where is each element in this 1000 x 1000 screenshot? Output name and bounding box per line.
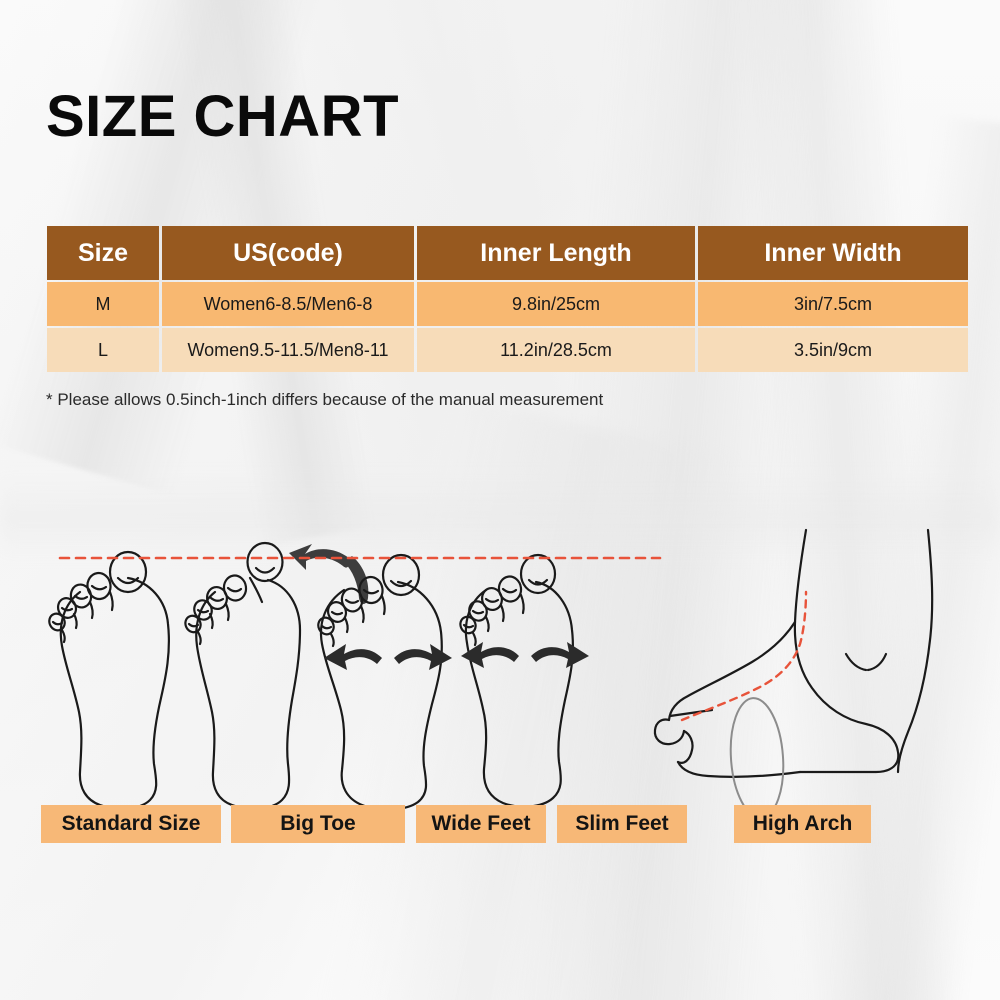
foot-sole-wide-arrows-icon bbox=[316, 555, 442, 810]
page-title: SIZE CHART bbox=[46, 88, 399, 146]
foot-sole-slim-arrows-icon bbox=[458, 555, 573, 807]
label-wide-feet: Wide Feet bbox=[416, 805, 546, 843]
cell-inner-length: 9.8in/25cm bbox=[417, 282, 695, 326]
cell-us-code: Women9.5-11.5/Men8-11 bbox=[162, 328, 414, 372]
curved-arrow-pointing-to-big-toe bbox=[289, 544, 368, 604]
column-header-inner-width: Inner Width bbox=[698, 226, 968, 280]
foot-type-illustrations bbox=[0, 520, 1000, 820]
foot-sole-top-view-icon bbox=[47, 552, 169, 809]
table-row: L Women9.5-11.5/Men8-11 11.2in/28.5cm 3.… bbox=[47, 328, 968, 372]
column-header-inner-length: Inner Length bbox=[417, 226, 695, 280]
table-row: M Women6-8.5/Men6-8 9.8in/25cm 3in/7.5cm bbox=[47, 282, 968, 326]
cell-size: L bbox=[47, 328, 159, 372]
red-dashed-arch-curve bbox=[682, 592, 806, 720]
column-header-size: Size bbox=[47, 226, 159, 280]
label-slim-feet: Slim Feet bbox=[557, 805, 687, 843]
cell-inner-width: 3in/7.5cm bbox=[698, 282, 968, 326]
foot-side-profile-arch-icon bbox=[655, 530, 932, 777]
cell-size: M bbox=[47, 282, 159, 326]
foot-sole-big-toe-icon bbox=[183, 543, 300, 809]
size-chart-page: SIZE CHART Size US(code) Inner Length In… bbox=[0, 0, 1000, 1000]
size-table: Size US(code) Inner Length Inner Width M… bbox=[44, 224, 971, 374]
gray-ellipse-measuring-loop bbox=[727, 696, 787, 819]
slim-feet-inward-arrows bbox=[461, 642, 589, 668]
label-high-arch: High Arch bbox=[734, 805, 871, 843]
background-frond-texture bbox=[510, 0, 849, 1000]
measurement-disclaimer: * Please allows 0.5inch-1inch differs be… bbox=[46, 390, 603, 410]
cell-inner-width: 3.5in/9cm bbox=[698, 328, 968, 372]
table-header-row: Size US(code) Inner Length Inner Width bbox=[47, 226, 968, 280]
background-frond-texture bbox=[723, 0, 968, 1000]
wide-feet-outward-arrows bbox=[324, 644, 452, 670]
label-standard-size: Standard Size bbox=[41, 805, 221, 843]
table-body: M Women6-8.5/Men6-8 9.8in/25cm 3in/7.5cm… bbox=[47, 282, 968, 372]
cell-inner-length: 11.2in/28.5cm bbox=[417, 328, 695, 372]
column-header-us-code: US(code) bbox=[162, 226, 414, 280]
table-header: Size US(code) Inner Length Inner Width bbox=[47, 226, 968, 280]
label-big-toe: Big Toe bbox=[231, 805, 405, 843]
cell-us-code: Women6-8.5/Men6-8 bbox=[162, 282, 414, 326]
